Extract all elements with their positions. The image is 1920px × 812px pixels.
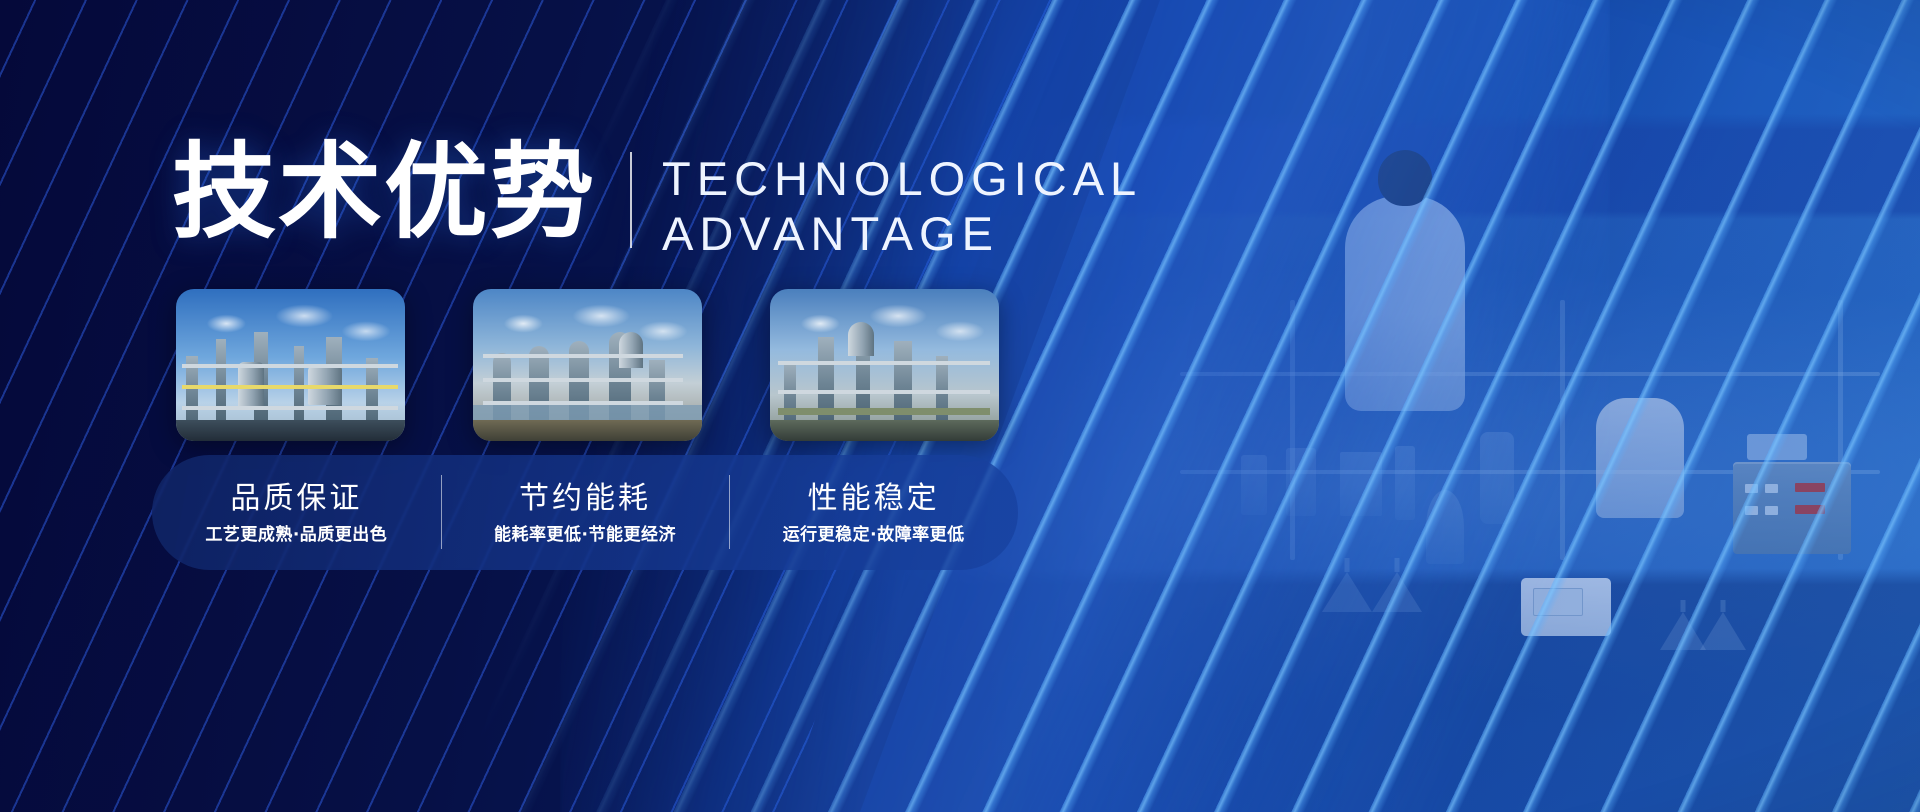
feature-title: 品质保证 bbox=[152, 480, 441, 518]
feature-item-energy[interactable]: 节约能耗 能耗率更低·节能更经济 bbox=[441, 480, 730, 546]
card-ground bbox=[473, 420, 702, 441]
photo-card-1[interactable] bbox=[176, 289, 405, 441]
page-title-en-line1: TECHNOLOGICAL bbox=[662, 152, 1142, 207]
technology-advantage-banner: 技术优势 TECHNOLOGICAL ADVANTAGE bbox=[0, 0, 1920, 812]
feature-subtitle: 工艺更成熟·品质更出色 bbox=[152, 525, 441, 545]
feature-item-stability[interactable]: 性能稳定 运行更稳定·故障率更低 bbox=[729, 480, 1018, 546]
photo-card-list bbox=[176, 289, 999, 441]
feature-title: 性能稳定 bbox=[729, 480, 1018, 518]
page-title-en-line2: ADVANTAGE bbox=[662, 207, 1142, 262]
title-divider bbox=[630, 152, 632, 248]
card-ground bbox=[770, 420, 999, 441]
feature-item-quality[interactable]: 品质保证 工艺更成熟·品质更出色 bbox=[152, 480, 441, 546]
banner-heading: 技术优势 TECHNOLOGICAL ADVANTAGE bbox=[172, 138, 1142, 261]
photo-card-3[interactable] bbox=[770, 289, 999, 441]
photo-card-2[interactable] bbox=[473, 289, 702, 441]
card-water bbox=[473, 405, 702, 420]
feature-subtitle: 运行更稳定·故障率更低 bbox=[729, 525, 1018, 545]
page-title-en-wrap: TECHNOLOGICAL ADVANTAGE bbox=[662, 138, 1142, 261]
page-title-cn: 技术优势 bbox=[172, 138, 596, 247]
feature-subtitle: 能耗率更低·节能更经济 bbox=[441, 525, 730, 545]
card-ground bbox=[176, 420, 405, 441]
feature-title: 节约能耗 bbox=[441, 480, 730, 518]
feature-bar: 品质保证 工艺更成熟·品质更出色 节约能耗 能耗率更低·节能更经济 性能稳定 运… bbox=[152, 455, 1018, 570]
